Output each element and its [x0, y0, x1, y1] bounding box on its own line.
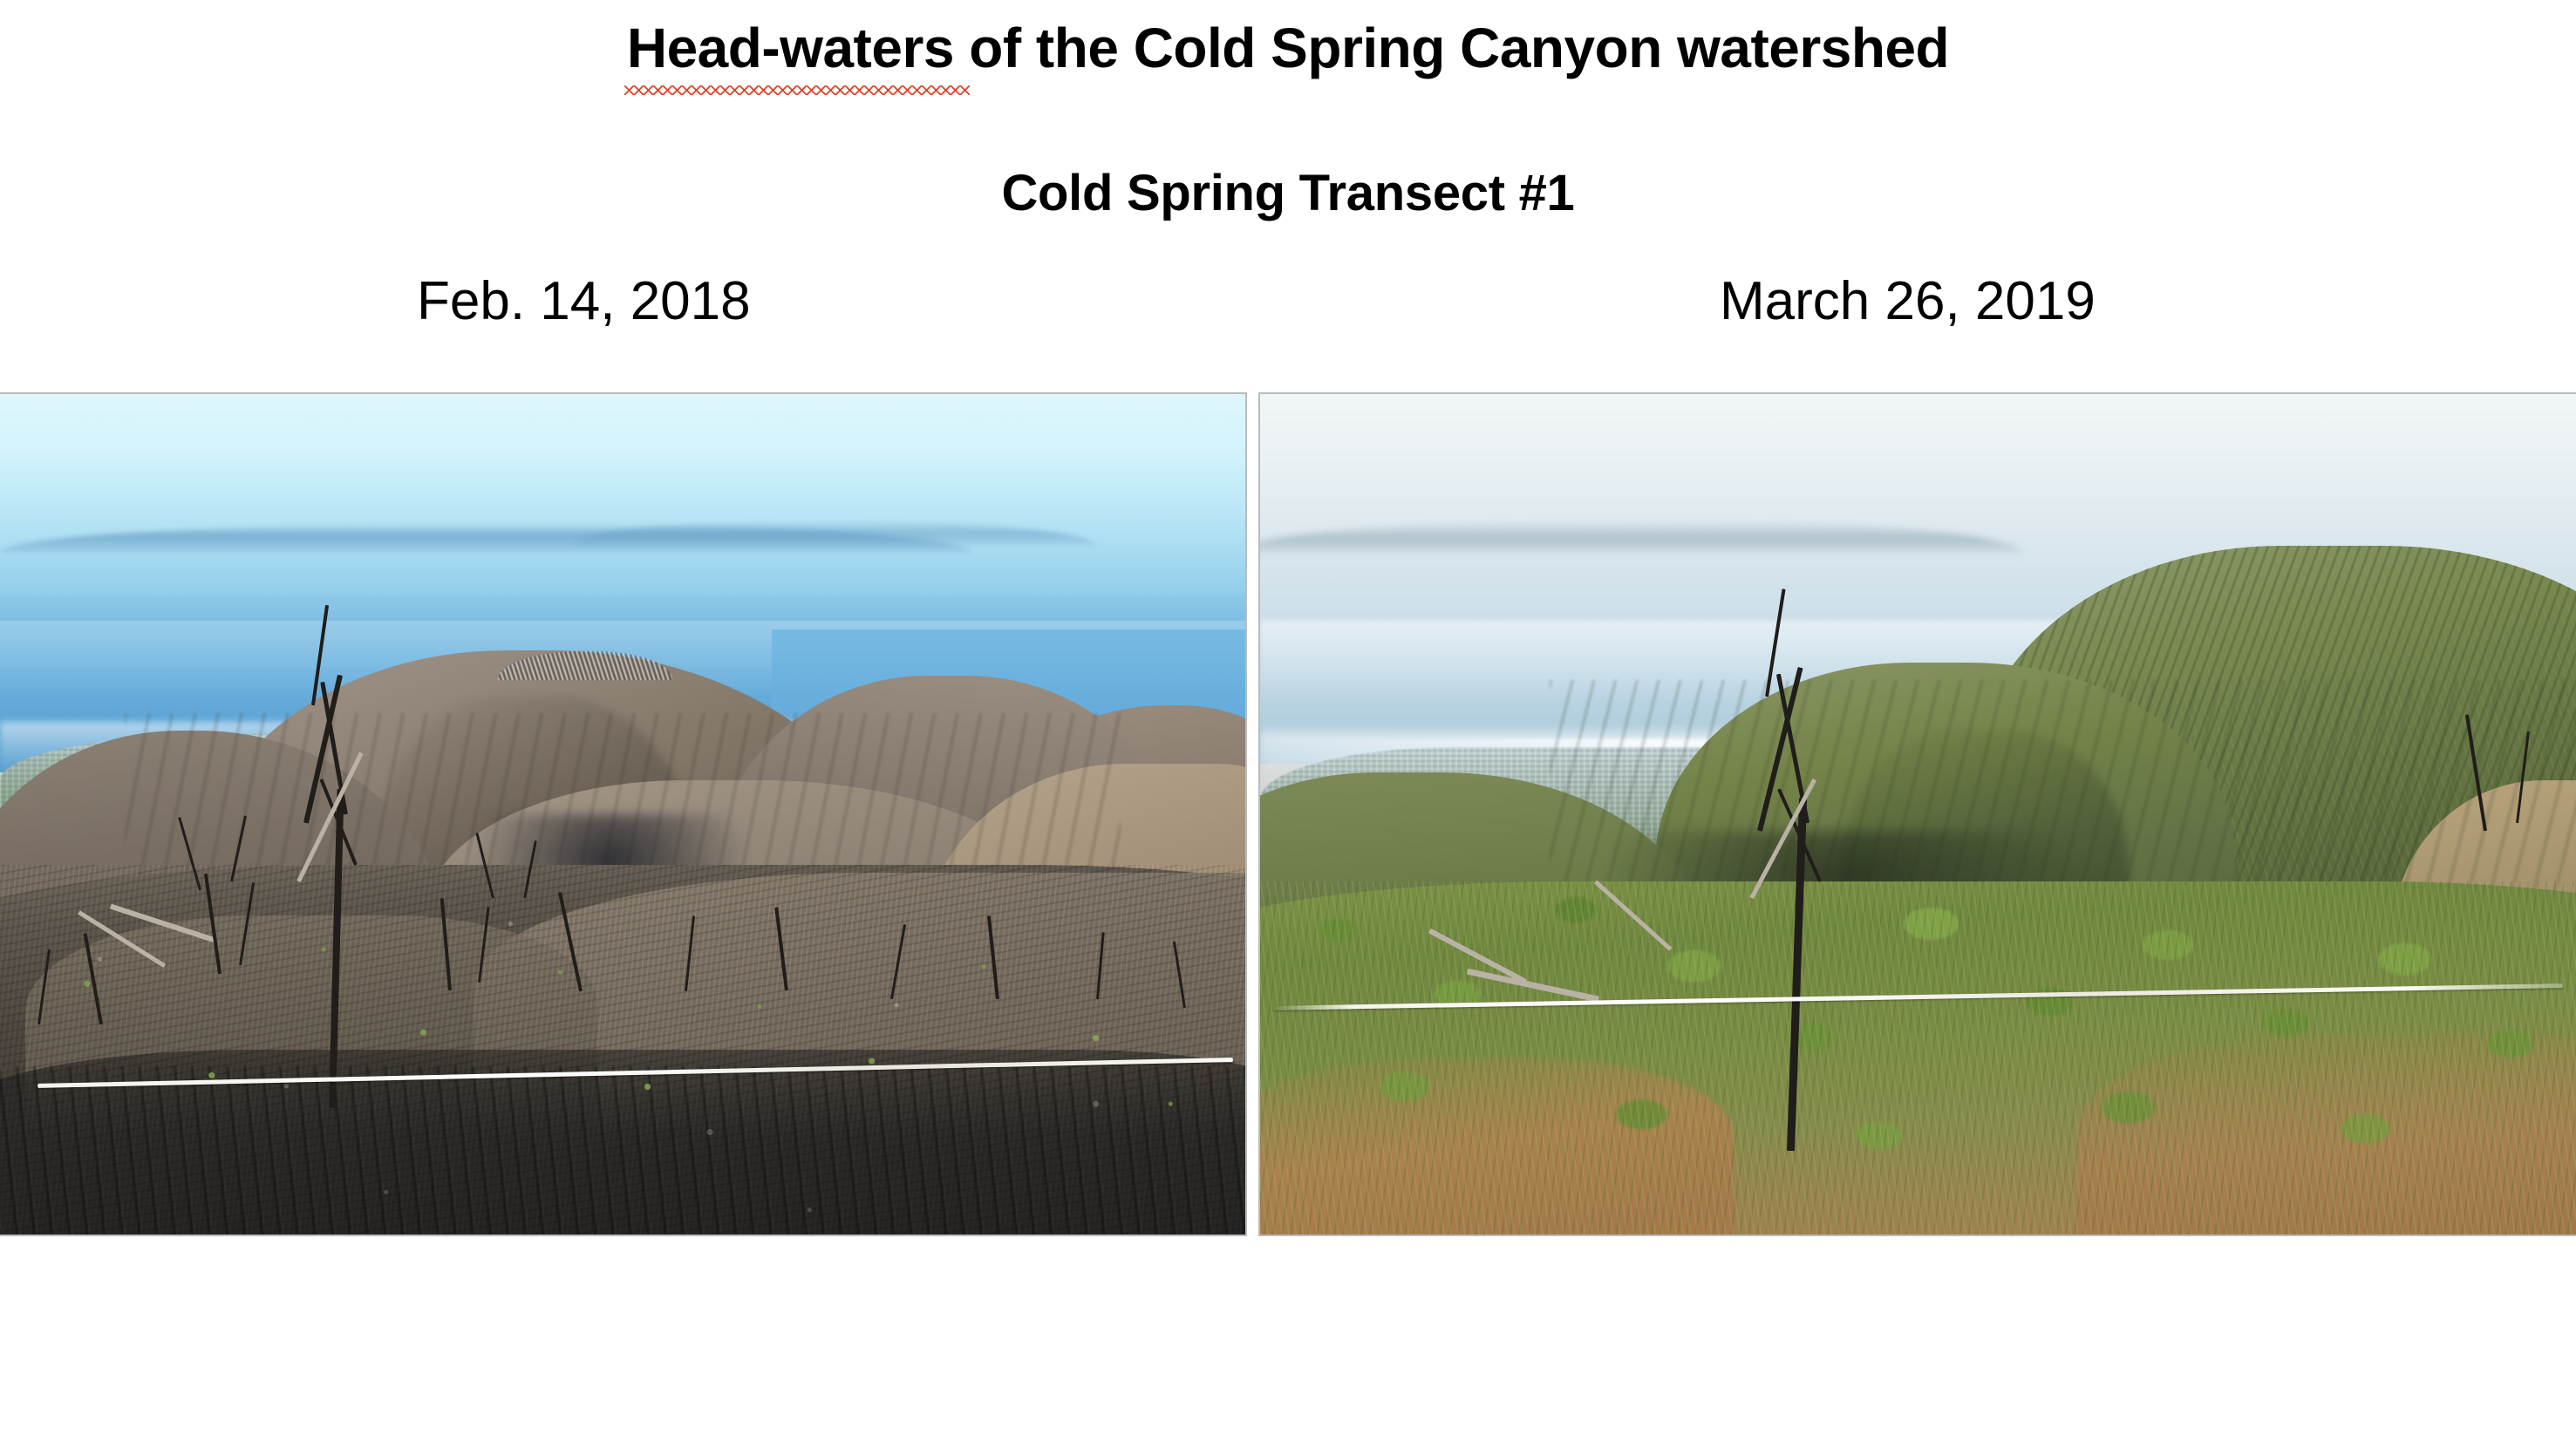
new-sprout-specks [0, 898, 1245, 1184]
spellcheck-squiggle-icon [624, 85, 970, 95]
page-subtitle: Cold Spring Transect #1 [0, 164, 2576, 222]
photo-date-label-right: March 26, 2019 [1720, 270, 2096, 332]
photo-after-2019 [1258, 392, 2576, 1236]
photo-date-label-left: Feb. 14, 2018 [417, 270, 751, 332]
grass-stroke-texture [1260, 881, 2576, 1235]
photo-before-2018 [0, 392, 1247, 1236]
page-title: Head-waters of the Cold Spring Canyon wa… [0, 16, 2576, 80]
